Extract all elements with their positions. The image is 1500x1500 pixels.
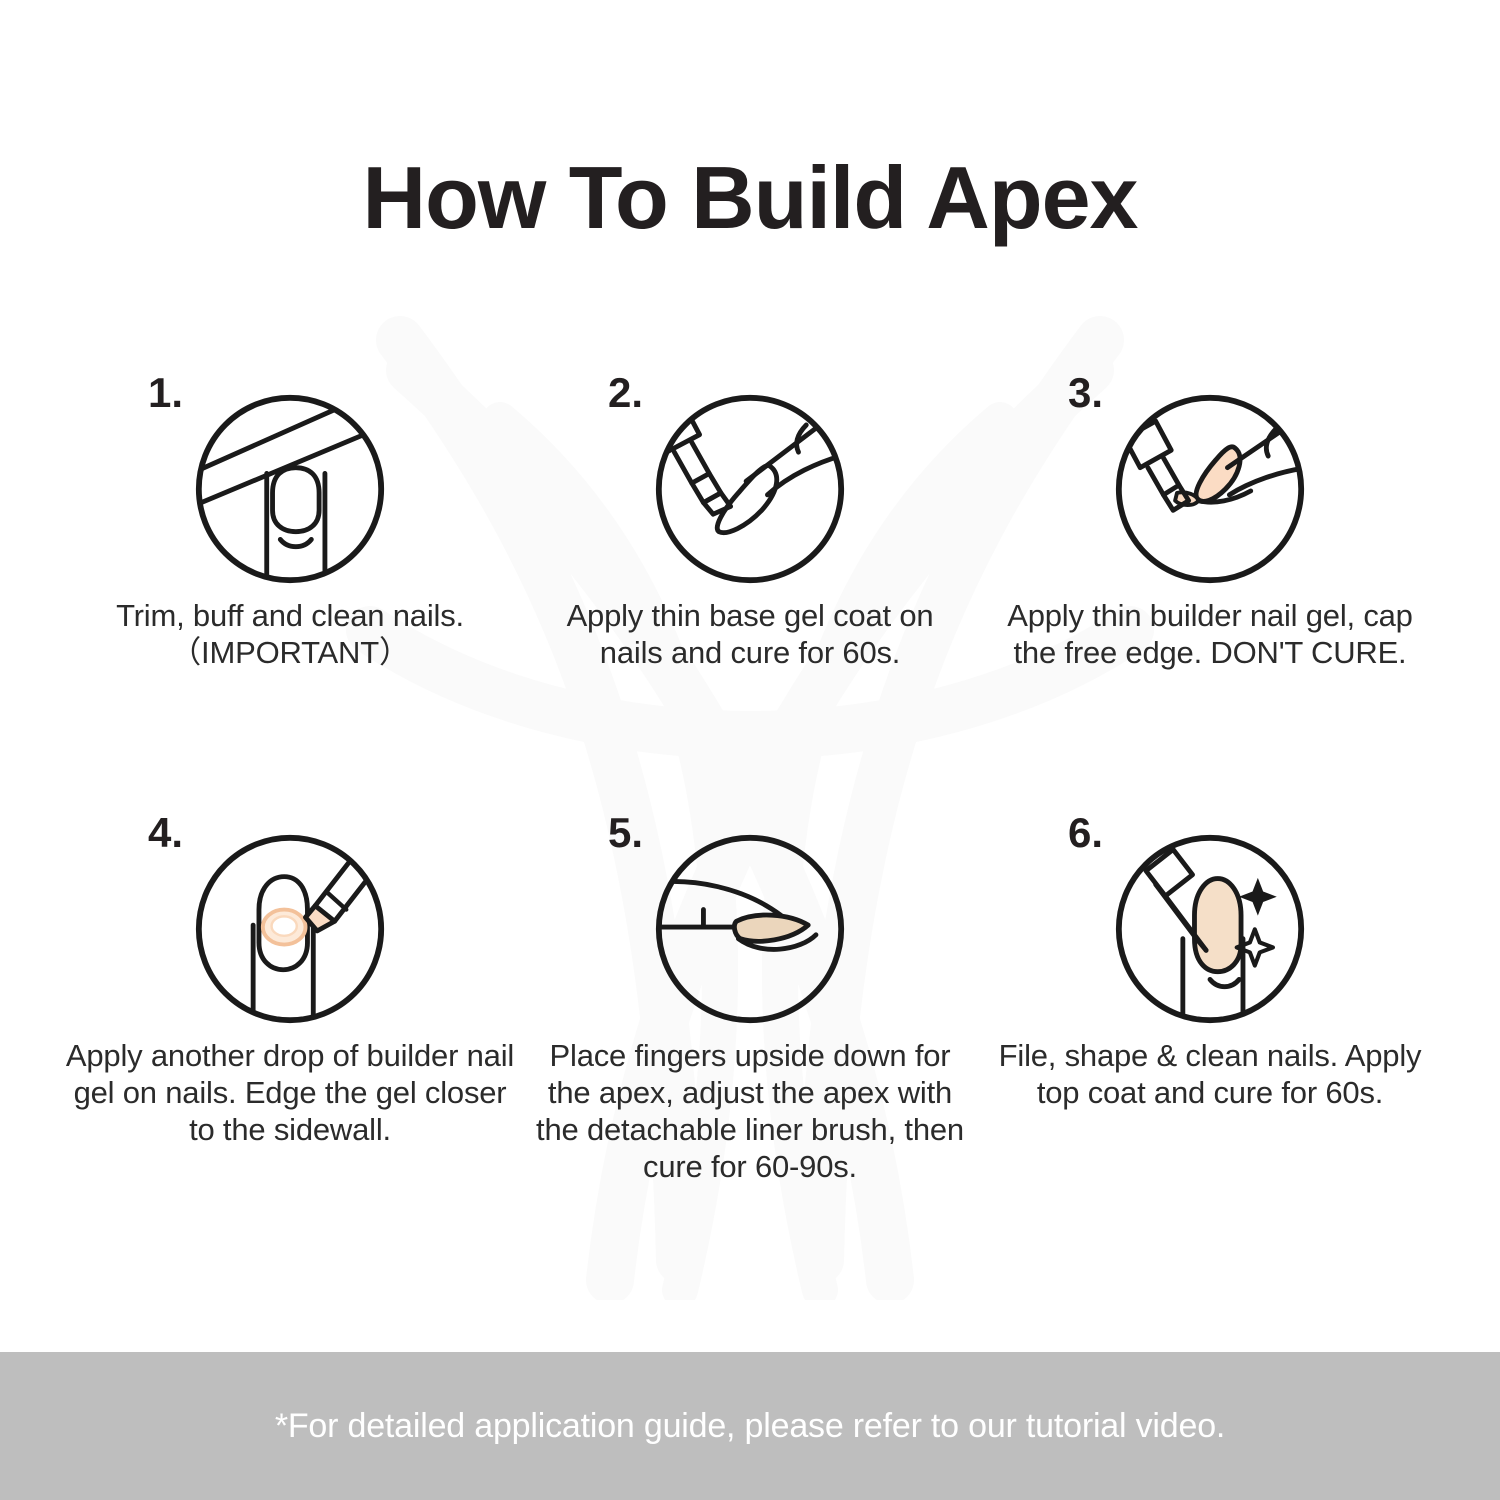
infographic-page: How To Build Apex 1. — [0, 0, 1500, 1500]
step-2-number: 2. — [608, 372, 643, 414]
step-1-number: 1. — [148, 372, 183, 414]
step-card-2: 2. — [520, 370, 980, 810]
step-1-caption: Trim, buff and clean nails.（IMPORTANT） — [80, 597, 500, 671]
step-5-number: 5. — [608, 812, 643, 854]
step-3-number: 3. — [1068, 372, 1103, 414]
step-3-figure: 3. — [1060, 370, 1360, 585]
step-6-figure: 6. — [1060, 810, 1360, 1025]
step-4-number: 4. — [148, 812, 183, 854]
page-title: How To Build Apex — [0, 150, 1500, 246]
step-card-5: 5. — [520, 810, 980, 1270]
step-1-figure: 1. — [140, 370, 440, 585]
step-card-3: 3. — [980, 370, 1440, 810]
step-2-figure: 2. — [600, 370, 900, 585]
finger-upside-down-apex-icon — [653, 832, 847, 1026]
step-card-6: 6. — [980, 810, 1440, 1270]
step-4-figure: 4. — [140, 810, 440, 1025]
steps-grid: 1. — [60, 370, 1440, 1270]
step-4-caption: Apply another drop of builder nail gel o… — [65, 1037, 515, 1148]
brush-capping-free-edge-icon — [1113, 392, 1307, 586]
step-card-4: 4. — [60, 810, 520, 1270]
footer-banner: *For detailed application guide, please … — [0, 1352, 1500, 1500]
nail-file-over-fingertip-icon — [193, 392, 387, 586]
steps-row-top: 1. — [60, 370, 1440, 810]
footer-note: *For detailed application guide, please … — [275, 1406, 1225, 1446]
step-card-1: 1. — [60, 370, 520, 810]
step-5-caption: Place fingers upside down for the apex, … — [525, 1037, 975, 1185]
brush-dropping-gel-on-nail-icon — [193, 832, 387, 1026]
step-6-caption: File, shape & clean nails. Apply top coa… — [985, 1037, 1435, 1111]
file-shape-sparkle-nail-icon — [1113, 832, 1307, 1026]
step-2-caption: Apply thin base gel coat on nails and cu… — [540, 597, 960, 671]
step-5-figure: 5. — [600, 810, 900, 1025]
step-3-caption: Apply thin builder nail gel, cap the fre… — [1000, 597, 1420, 671]
steps-row-bottom: 4. — [60, 810, 1440, 1270]
brush-applying-base-gel-icon — [653, 392, 847, 586]
step-6-number: 6. — [1068, 812, 1103, 854]
